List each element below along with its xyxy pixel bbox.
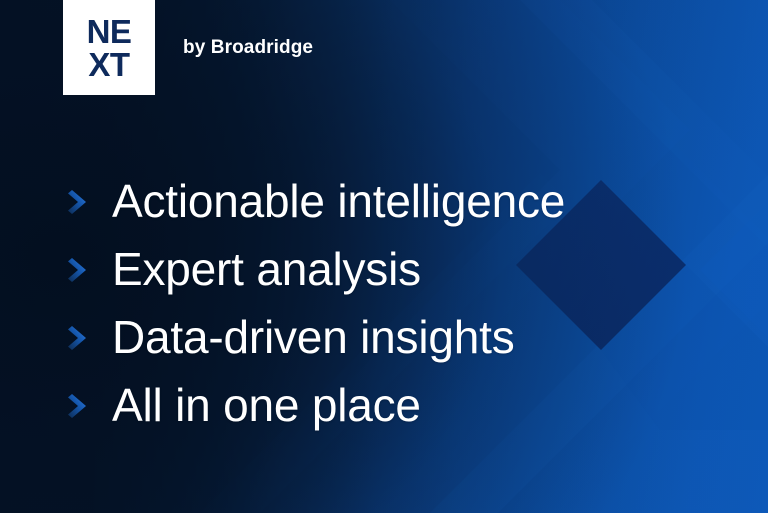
chevron-right-icon — [63, 389, 97, 423]
list-item: Actionable intelligence — [63, 167, 703, 235]
logo-lockup: NE XT by Broadridge — [63, 0, 313, 95]
list-item: Expert analysis — [63, 235, 703, 303]
list-item-label: Expert analysis — [112, 246, 421, 292]
promo-banner: NE XT by Broadridge Actionable intellige… — [0, 0, 768, 513]
list-item: Data-driven insights — [63, 303, 703, 371]
logo-byline: by Broadridge — [183, 37, 313, 59]
benefit-list: Actionable intelligence Expert analysis — [63, 167, 703, 439]
chevron-right-icon — [63, 185, 97, 219]
chevron-right-icon — [63, 321, 97, 355]
list-item: All in one place — [63, 371, 703, 439]
list-item-label: All in one place — [112, 382, 421, 428]
list-item-label: Data-driven insights — [112, 314, 515, 360]
next-logo-mark: NE XT — [63, 0, 155, 95]
logo-text-line-1: NE — [87, 16, 132, 48]
list-item-label: Actionable intelligence — [112, 178, 565, 224]
logo-text-line-2: XT — [88, 49, 129, 81]
chevron-right-icon — [63, 253, 97, 287]
